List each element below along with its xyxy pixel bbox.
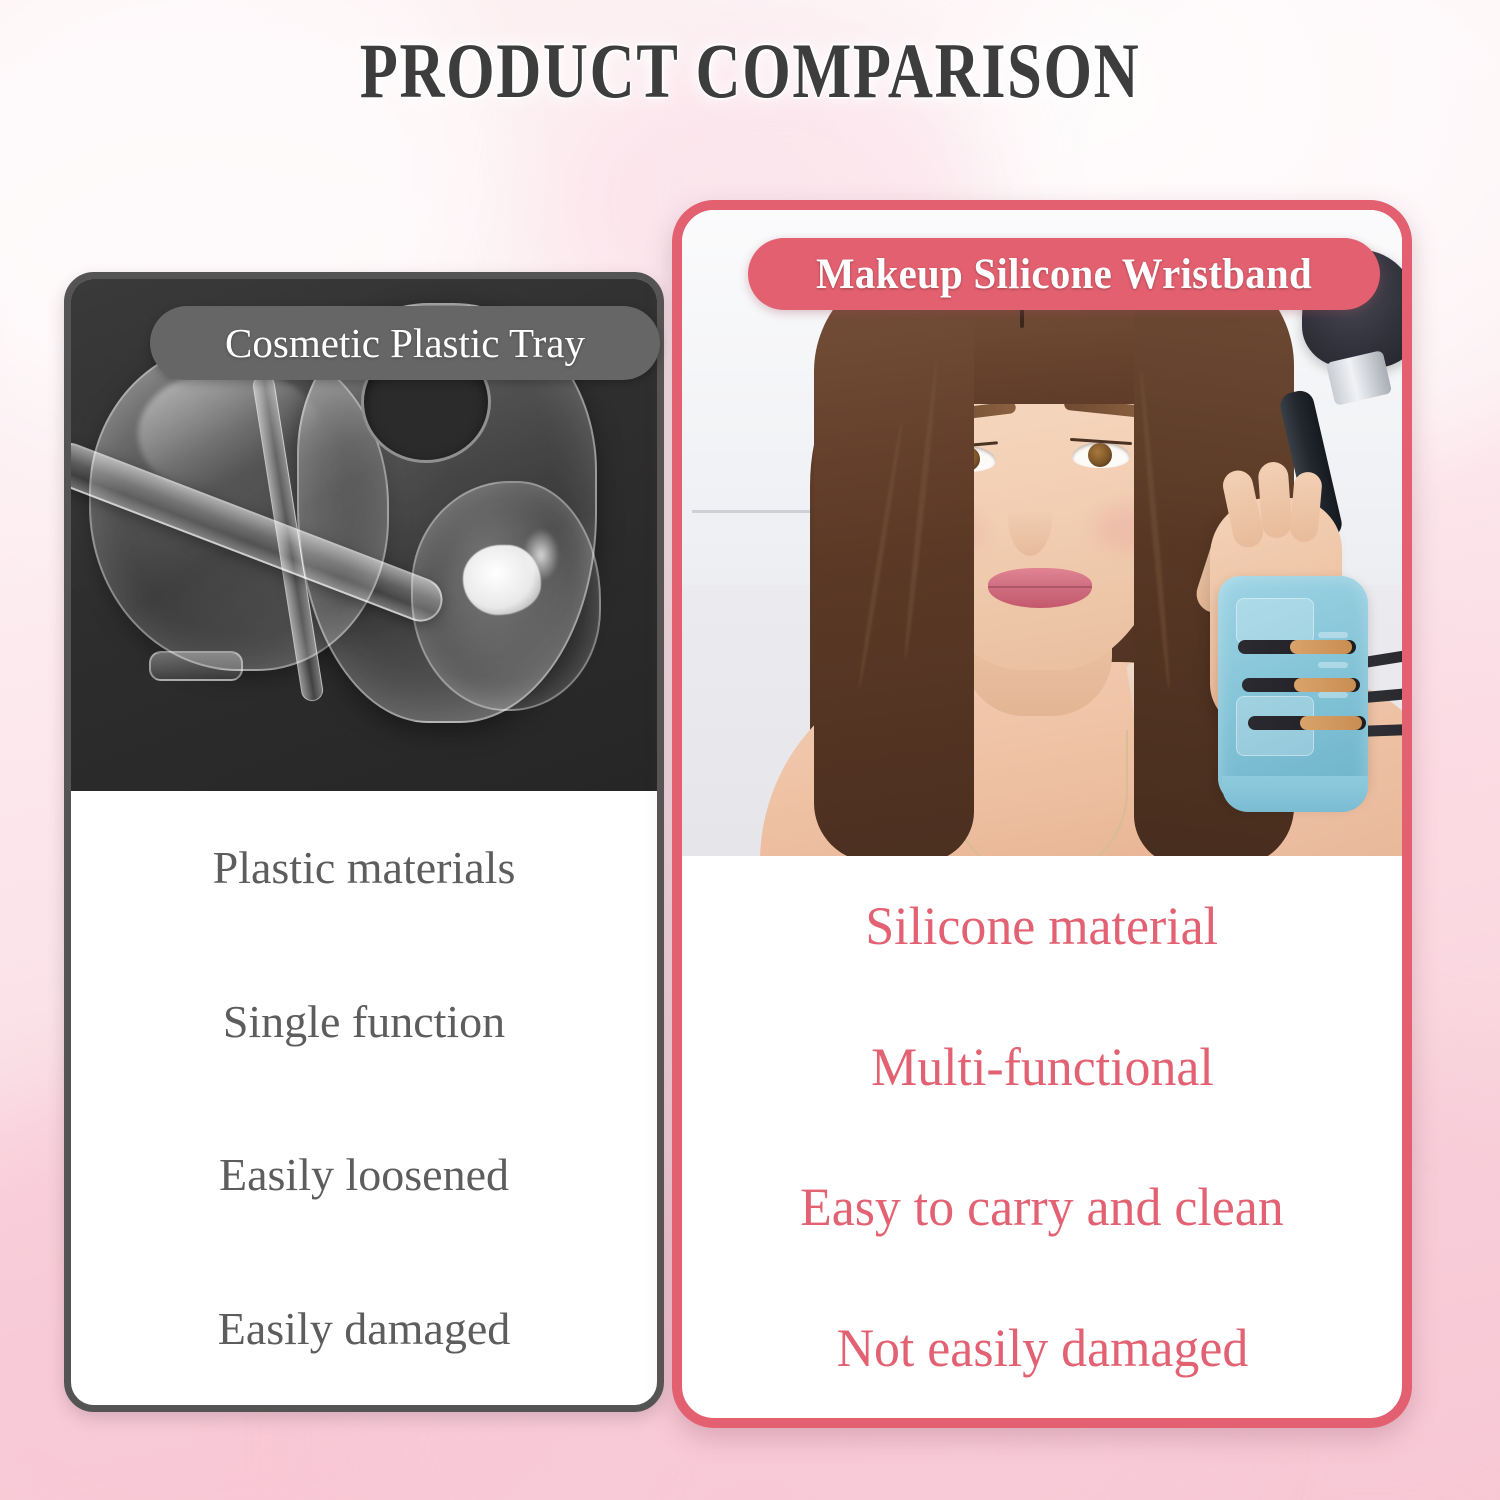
held-brush-ferrule-shape <box>1290 640 1352 654</box>
feature-item: Single function <box>71 945 657 1099</box>
feature-item: Silicone material <box>682 856 1402 997</box>
feature-label: Easy to carry and clean <box>800 1176 1284 1238</box>
feature-label: Plastic materials <box>213 841 516 894</box>
model-lips-shape <box>988 568 1092 608</box>
comparison-card-left: Plastic materials Single function Easily… <box>64 272 664 1412</box>
held-brush-ferrule-shape <box>1300 716 1362 730</box>
necklace-chain-shape <box>950 730 1128 856</box>
comparison-card-right: Silicone material Multi-functional Easy … <box>672 200 1412 1428</box>
feature-item: Easily damaged <box>71 1252 657 1406</box>
badge-label: Makeup Silicone Wristband <box>816 250 1312 299</box>
tray-lid-tab-shape <box>149 651 243 681</box>
model-nose-shape <box>1008 478 1052 556</box>
feature-item: Plastic materials <box>71 791 657 945</box>
feature-label: Multi-functional <box>871 1036 1214 1098</box>
wristband-ridge-shape <box>1318 632 1348 638</box>
feature-item: Multi-functional <box>682 997 1402 1138</box>
badge-cosmetic-plastic-tray: Cosmetic Plastic Tray <box>150 306 660 380</box>
wristband-cuff-shape <box>1222 776 1368 812</box>
wristband-ridge-shape <box>1318 692 1348 698</box>
feature-label: Easily damaged <box>218 1302 511 1355</box>
page-title: PRODUCT COMPARISON <box>150 26 1350 116</box>
feature-label: Not easily damaged <box>836 1317 1248 1379</box>
cosmetic-powder-speckle-shape <box>523 529 559 581</box>
wristband-slot-shape <box>1236 598 1314 644</box>
badge-label: Cosmetic Plastic Tray <box>225 319 585 367</box>
feature-label: Easily loosened <box>219 1148 509 1201</box>
model-finger-shape <box>1257 461 1292 539</box>
feature-label: Silicone material <box>866 895 1219 957</box>
model-lip-line-shape <box>988 586 1092 588</box>
feature-label: Single function <box>223 995 505 1048</box>
feature-list-left: Plastic materials Single function Easily… <box>71 791 657 1405</box>
infographic-canvas: PRODUCT COMPARISON Plastic materials Sin… <box>0 0 1500 1500</box>
wristband-ridge-shape <box>1318 662 1348 668</box>
model-iris-shape <box>1088 443 1112 467</box>
feature-item: Not easily damaged <box>682 1278 1402 1419</box>
badge-makeup-silicone-wristband: Makeup Silicone Wristband <box>748 238 1380 310</box>
feature-list-right: Silicone material Multi-functional Easy … <box>682 856 1402 1418</box>
model-hair-strand-left-shape <box>814 262 974 856</box>
feature-item: Easily loosened <box>71 1098 657 1252</box>
held-brush-ferrule-shape <box>1294 678 1356 692</box>
feature-item: Easy to carry and clean <box>682 1137 1402 1278</box>
